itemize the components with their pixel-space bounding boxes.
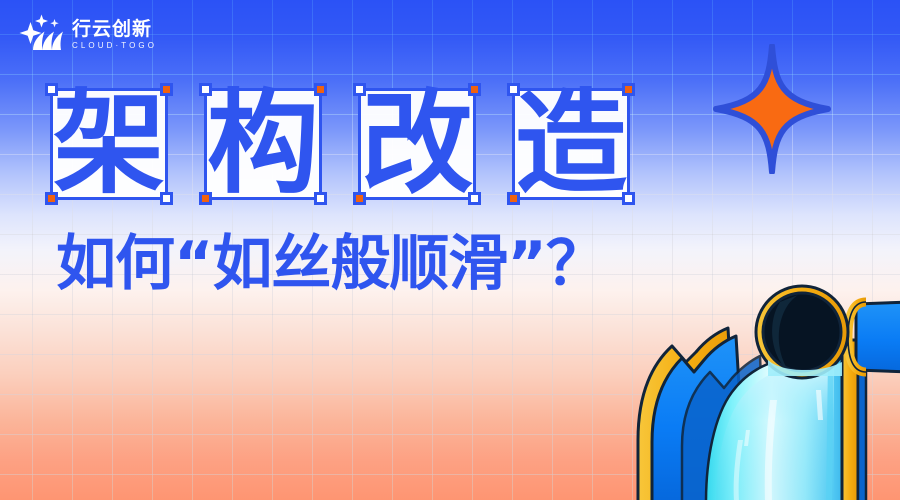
headline-char: 架 (53, 88, 165, 200)
selection-handle-bottom-left[interactable] (45, 192, 58, 205)
headline-character-row: 架 构 改 造 (50, 88, 630, 200)
selection-handle-bottom-left[interactable] (507, 192, 520, 205)
selection-handle-top-left[interactable] (507, 83, 520, 96)
selection-handle-top-right[interactable] (160, 83, 173, 96)
selection-handle-top-right[interactable] (314, 83, 327, 96)
pipe-faucet-water-flow (620, 240, 900, 500)
selection-handle-top-left[interactable] (353, 83, 366, 96)
four-point-star-icon (712, 44, 832, 174)
selection-handle-top-left[interactable] (45, 83, 58, 96)
illustration-body (638, 286, 900, 500)
sparkle-swoosh-icon (16, 13, 64, 57)
brand-logo[interactable]: 行云创新 CLOUD·TOGO (16, 12, 157, 58)
selection-handle-bottom-right[interactable] (622, 192, 635, 205)
selection-handle-bottom-left[interactable] (353, 192, 366, 205)
headline-char-box[interactable]: 改 (358, 88, 476, 200)
headline-char-box[interactable]: 造 (512, 88, 630, 200)
subtitle-text: 如何“如丝般顺滑”？ (56, 228, 605, 300)
pipe-horizontal-icon (856, 302, 900, 372)
selection-handle-top-left[interactable] (199, 83, 212, 96)
headline-char-box[interactable]: 架 (50, 88, 168, 200)
selection-handle-top-right[interactable] (468, 83, 481, 96)
selection-handle-bottom-right[interactable] (160, 192, 173, 205)
headline-char: 构 (207, 88, 319, 200)
logo-brand-name: 行云创新 (72, 19, 157, 40)
selection-handle-bottom-left[interactable] (199, 192, 212, 205)
headline-char: 造 (515, 88, 627, 200)
selection-handle-bottom-right[interactable] (314, 192, 327, 205)
logo-tagline: CLOUD·TOGO (72, 40, 157, 52)
headline-char: 改 (361, 88, 473, 200)
selection-handle-top-right[interactable] (622, 83, 635, 96)
promo-banner: 行云创新 CLOUD·TOGO 架 构 改 (0, 0, 900, 500)
headline-char-box[interactable]: 构 (204, 88, 322, 200)
selection-handle-bottom-right[interactable] (468, 192, 481, 205)
